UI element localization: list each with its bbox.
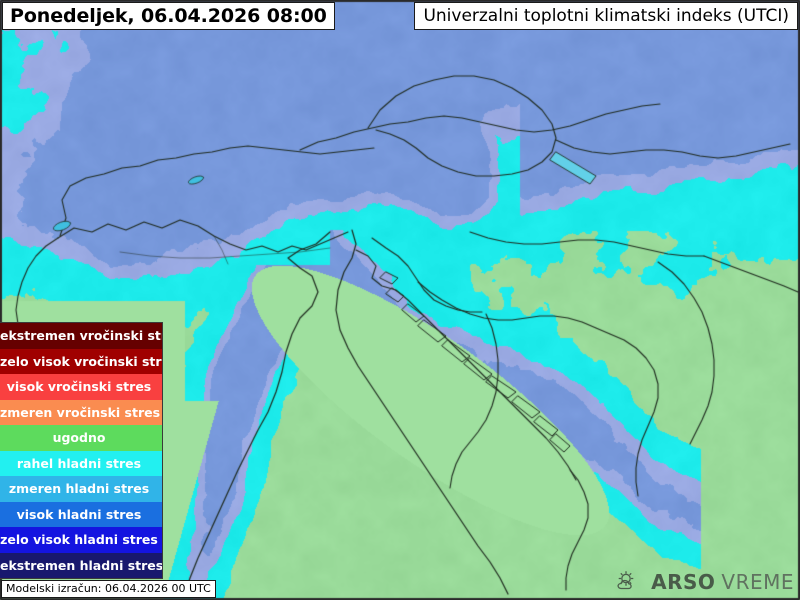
arso-vreme-logo[interactable]: ARSO VREME: [615, 570, 794, 594]
legend-item-label: rahel hladni stres: [17, 456, 141, 471]
model-run-footer: Modelski izračun: 06.04.2026 00 UTC: [1, 580, 216, 598]
brand-name-secondary: VREME: [721, 570, 794, 594]
legend-item-label: ekstremen vročinski stres: [0, 328, 162, 343]
legend-item-7[interactable]: visok hladni stres: [0, 502, 162, 528]
legend-item-label: zelo visok hladni stres: [0, 532, 158, 547]
legend-item-3[interactable]: zmeren vročinski stres: [0, 400, 162, 426]
map-title-header: Univerzalni toplotni klimatski indeks (U…: [414, 2, 798, 30]
legend-item-9[interactable]: ekstremen hladni stres: [0, 553, 162, 579]
legend-item-4[interactable]: ugodno: [0, 425, 162, 451]
legend-item-label: zmeren hladni stres: [9, 481, 149, 496]
legend-item-label: zmeren vročinski stres: [0, 405, 160, 420]
legend-item-5[interactable]: rahel hladni stres: [0, 451, 162, 477]
legend-item-label: zelo visok vročinski stres: [0, 354, 162, 369]
sun-cloud-icon: [615, 570, 645, 594]
legend-item-2[interactable]: visok vročinski stres: [0, 374, 162, 400]
legend-item-label: ugodno: [53, 430, 106, 445]
legend-item-8[interactable]: zelo visok hladni stres: [0, 527, 162, 553]
weather-map-app: Ponedeljek, 06.04.2026 08:00 Univerzalni…: [0, 0, 800, 600]
legend-item-label: ekstremen hladni stres: [0, 558, 162, 573]
legend-item-label: visok hladni stres: [17, 507, 142, 522]
utci-legend: ekstremen vročinski streszelo visok vroč…: [0, 322, 163, 579]
legend-item-0[interactable]: ekstremen vročinski stres: [0, 323, 162, 349]
legend-item-label: visok vročinski stres: [7, 379, 152, 394]
legend-item-6[interactable]: zmeren hladni stres: [0, 476, 162, 502]
map-timestamp-header: Ponedeljek, 06.04.2026 08:00: [2, 2, 335, 30]
brand-name-primary: ARSO: [651, 570, 715, 594]
legend-item-1[interactable]: zelo visok vročinski stres: [0, 349, 162, 375]
